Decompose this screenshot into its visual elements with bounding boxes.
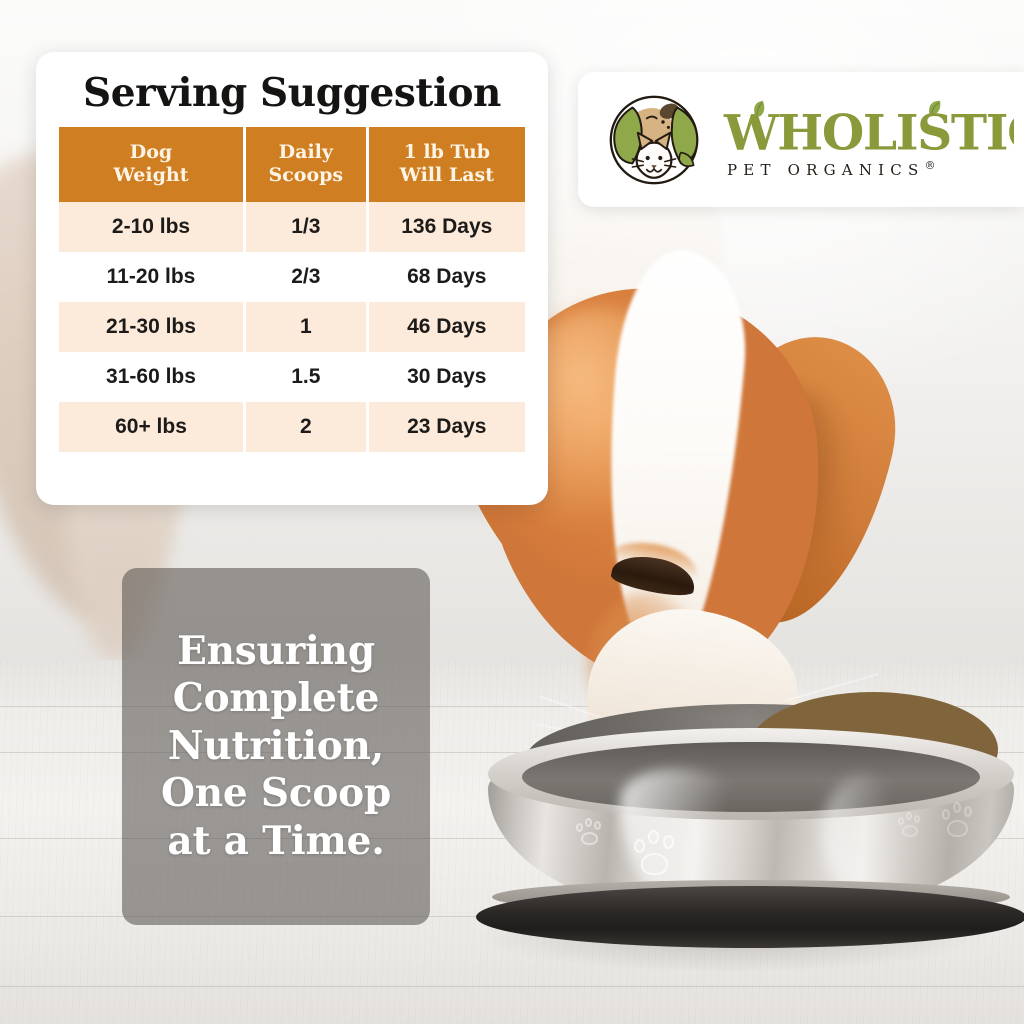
table-row: 2-10 lbs 1/3 136 Days <box>59 202 525 252</box>
cell-dog-weight: 60+ lbs <box>59 402 243 452</box>
bowl-opening <box>522 742 980 812</box>
registered-trademark-icon: ® <box>924 159 935 172</box>
cell-tub-duration: 46 Days <box>369 302 525 352</box>
dog-and-cat-circle-emblem-icon <box>600 86 708 194</box>
paw-print-emboss-icon <box>576 818 604 848</box>
brand-subtitle-text: PET ORGANICS <box>727 161 924 179</box>
page-title: Serving Suggestion <box>56 74 528 113</box>
cell-dog-weight: 2-10 lbs <box>59 202 243 252</box>
bowl-specular-highlight <box>822 774 908 896</box>
bowl-rubber-base <box>476 886 1024 948</box>
cell-daily-scoops: 1/3 <box>246 202 366 252</box>
paw-print-emboss-icon <box>898 812 924 840</box>
table-header-row: Dog Weight Daily Scoops 1 lb Tub Will La… <box>59 127 525 202</box>
column-header-dog-weight: Dog Weight <box>59 127 243 202</box>
svg-text:WHOLISTIC: WHOLISTIC <box>723 104 1014 158</box>
brand-logo-badge: WHOLISTIC PET ORGANICS® <box>578 72 1024 207</box>
cell-daily-scoops: 1.5 <box>246 352 366 402</box>
cell-daily-scoops: 1 <box>246 302 366 352</box>
cell-tub-duration: 30 Days <box>369 352 525 402</box>
table-row: 60+ lbs 2 23 Days <box>59 402 525 452</box>
table-body: 2-10 lbs 1/3 136 Days 11-20 lbs 2/3 68 D… <box>59 202 525 452</box>
cell-daily-scoops: 2/3 <box>246 252 366 302</box>
paw-print-emboss-icon <box>942 802 976 840</box>
serving-suggestion-card: Serving Suggestion Dog Weight Daily Scoo… <box>36 52 548 505</box>
cell-dog-weight: 21-30 lbs <box>59 302 243 352</box>
cell-dog-weight: 31-60 lbs <box>59 352 243 402</box>
serving-suggestion-table: Dog Weight Daily Scoops 1 lb Tub Will La… <box>56 127 528 452</box>
column-header-daily-scoops: Daily Scoops <box>246 127 366 202</box>
dog-food-bowl <box>470 690 1024 950</box>
cell-dog-weight: 11-20 lbs <box>59 252 243 302</box>
brand-wordmark-group: WHOLISTIC PET ORGANICS® <box>722 100 1014 179</box>
table-row: 21-30 lbs 1 46 Days <box>59 302 525 352</box>
cell-tub-duration: 23 Days <box>369 402 525 452</box>
column-header-tub-duration: 1 lb Tub Will Last <box>369 127 525 202</box>
paw-print-emboss-icon <box>634 830 678 878</box>
cell-tub-duration: 68 Days <box>369 252 525 302</box>
tagline-text: Ensuring Complete Nutrition, One Scoop a… <box>161 628 391 866</box>
tagline-overlay-panel: Ensuring Complete Nutrition, One Scoop a… <box>122 568 430 925</box>
table-row: 31-60 lbs 1.5 30 Days <box>59 352 525 402</box>
table-row: 11-20 lbs 2/3 68 Days <box>59 252 525 302</box>
cell-daily-scoops: 2 <box>246 402 366 452</box>
brand-subtitle: PET ORGANICS® <box>727 159 1014 179</box>
brand-name-wordmark: WHOLISTIC <box>722 100 1014 158</box>
cell-tub-duration: 136 Days <box>369 202 525 252</box>
